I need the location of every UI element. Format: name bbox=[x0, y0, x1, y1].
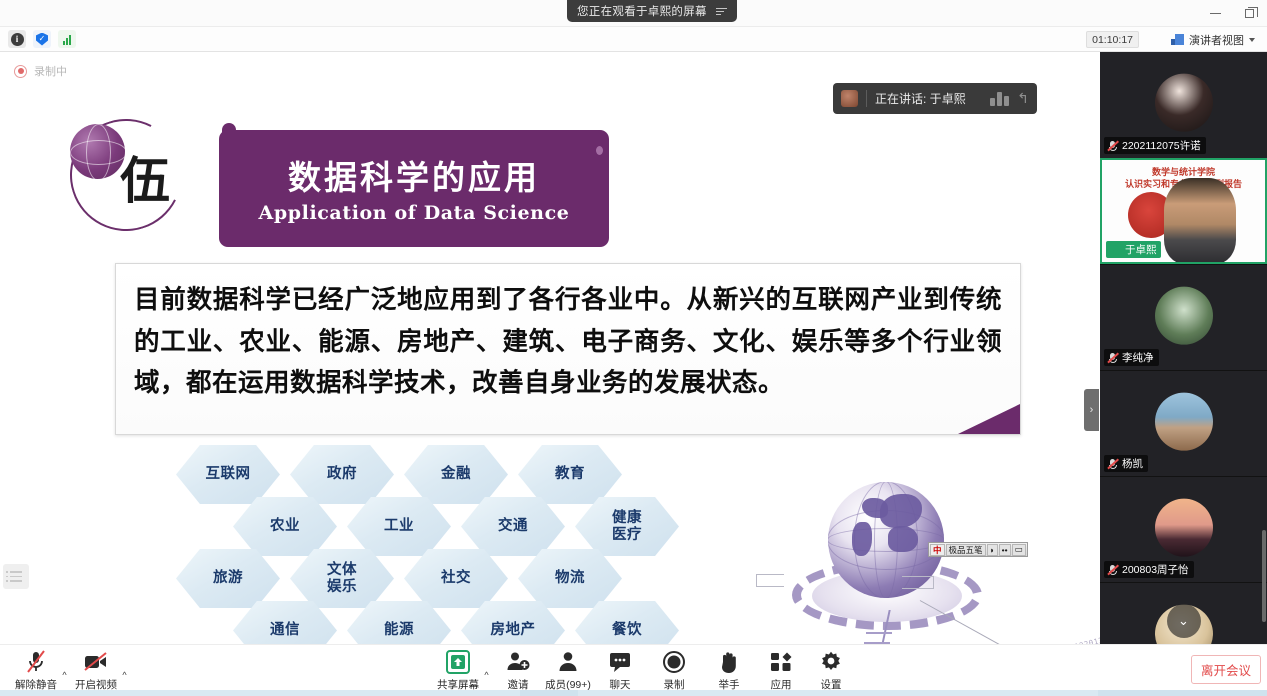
slide-title-en: Application of Data Science bbox=[219, 202, 609, 224]
active-speaker-label: 正在讲话: 于卓熙 bbox=[875, 90, 982, 107]
view-mode-label: 演讲者视图 bbox=[1189, 32, 1244, 48]
camera-off-icon bbox=[83, 650, 109, 674]
hex-cell: 互联网 bbox=[176, 445, 280, 504]
chevron-down-icon[interactable] bbox=[1249, 38, 1255, 42]
hex-cell-label: 通信 bbox=[270, 622, 300, 638]
toolbar-button-unmute[interactable]: 解除静音 bbox=[8, 650, 64, 694]
hex-cell-label: 政府 bbox=[327, 466, 357, 482]
hex-cell: 物流 bbox=[518, 549, 622, 608]
viewing-screen-text: 您正在观看于卓熙的屏幕 bbox=[577, 3, 707, 19]
hex-cell-label: 文体娱乐 bbox=[327, 562, 357, 594]
hex-cell: 社交 bbox=[404, 549, 508, 608]
participant-name: 200803周子怡 bbox=[1122, 562, 1189, 577]
recording-indicator: 录制中 bbox=[14, 63, 67, 79]
shield-icon[interactable]: ✓ bbox=[33, 30, 51, 48]
participant-name-chip: 200803周子怡 bbox=[1104, 561, 1194, 578]
hex-cell-label: 房地产 bbox=[491, 622, 536, 638]
microphone-muted-icon bbox=[1107, 458, 1118, 470]
participant-tile[interactable]: 200803周子怡 bbox=[1100, 476, 1267, 582]
info-icon[interactable]: i bbox=[8, 30, 26, 48]
shared-screen-stage: 录制中 伍 数据科学的应用 Application of Data Scienc… bbox=[0, 52, 1100, 644]
toolbar-button-record[interactable]: 录制 bbox=[646, 650, 702, 694]
hex-cell: 工业 bbox=[347, 497, 451, 556]
participant-tile[interactable]: 杨凯 bbox=[1100, 370, 1267, 476]
hex-cell: 能源 bbox=[347, 601, 451, 644]
hex-cell-label: 教育 bbox=[555, 466, 585, 482]
ime-button-3[interactable]: ▭ bbox=[1012, 544, 1026, 556]
toolbar-button-settings[interactable]: 设置 bbox=[803, 650, 859, 694]
presenter-face bbox=[1164, 178, 1236, 262]
list-icon bbox=[10, 571, 22, 581]
hex-cell: 旅游 bbox=[176, 549, 280, 608]
hex-cell: 金融 bbox=[404, 445, 508, 504]
meeting-window: 您正在观看于卓熙的屏幕 i ✓ 01:10:17 演讲者视图 录制中 bbox=[0, 0, 1267, 696]
hex-cell-label: 健康医疗 bbox=[612, 510, 642, 542]
viewing-screen-banner[interactable]: 您正在观看于卓熙的屏幕 bbox=[567, 0, 737, 22]
globe-icon bbox=[70, 124, 125, 179]
slide-title-plate: 数据科学的应用 Application of Data Science bbox=[219, 130, 609, 247]
hex-row: 通信能源房地产餐饮 bbox=[233, 601, 679, 644]
toolbar-button-participants[interactable]: 成员(99+) bbox=[540, 650, 596, 694]
industry-hex-grid: 互联网政府金融教育农业工业交通健康医疗旅游文体娱乐社交物流通信能源房地产餐饮建筑… bbox=[176, 445, 686, 644]
hex-cell: 教育 bbox=[518, 445, 622, 504]
toolbar-button-raise-hand[interactable]: 举手 bbox=[701, 650, 757, 694]
meeting-toolbar: 解除静音^开启视频^共享屏幕^邀请成员(99+)聊天录制举手应用设置 离开会议 bbox=[0, 644, 1267, 696]
toolbar-items: 解除静音^开启视频^共享屏幕^邀请成员(99+)聊天录制举手应用设置 bbox=[0, 645, 1267, 696]
toolbar-button-invite[interactable]: 邀请 bbox=[490, 650, 546, 694]
hex-cell-label: 社交 bbox=[441, 570, 471, 586]
toolbar-button-start-video[interactable]: 开启视频 bbox=[68, 650, 124, 694]
microphone-muted-icon bbox=[1107, 564, 1118, 576]
reply-arrow-icon[interactable]: ↰ bbox=[1017, 90, 1029, 107]
hex-cell: 交通 bbox=[461, 497, 565, 556]
window-restore-button[interactable] bbox=[1239, 4, 1259, 22]
hex-cell: 房地产 bbox=[461, 601, 565, 644]
ime-button-2[interactable]: •• bbox=[999, 544, 1011, 556]
participant-name: 于卓熙 bbox=[1125, 242, 1157, 257]
hex-cell: 政府 bbox=[290, 445, 394, 504]
participant-name: 2202112075许诺 bbox=[1122, 138, 1201, 153]
toolbar-button-share-screen[interactable]: 共享屏幕 bbox=[430, 650, 486, 694]
hex-cell-label: 农业 bbox=[270, 518, 300, 534]
globe-callout-lines bbox=[920, 600, 1066, 644]
toolbar-button-chevron-up-icon[interactable]: ^ bbox=[120, 671, 129, 680]
participant-name-chip: 2202112075许诺 bbox=[1104, 137, 1206, 154]
audio-wave-icon bbox=[990, 92, 1009, 106]
participant-tile[interactable]: 数学与统计学院认识实习和专业实习系列报告于卓熙 bbox=[1100, 158, 1267, 264]
status-toolbar: i ✓ 01:10:17 演讲者视图 bbox=[0, 27, 1267, 52]
raise-hand-icon bbox=[718, 650, 740, 674]
hex-row: 互联网政府金融教育 bbox=[176, 445, 622, 504]
recording-label: 录制中 bbox=[34, 63, 67, 79]
ime-name-label: 极品五笔 bbox=[946, 544, 986, 556]
meeting-timer: 01:10:17 bbox=[1086, 31, 1139, 48]
panel-collapse-handle[interactable]: › bbox=[1084, 389, 1099, 431]
hex-cell-label: 物流 bbox=[555, 570, 585, 586]
invite-person-icon bbox=[506, 650, 530, 674]
hex-cell-label: 能源 bbox=[384, 622, 414, 638]
ime-language-icon[interactable]: 中 bbox=[930, 544, 945, 556]
participant-tile[interactable]: 2202112075许诺 bbox=[1100, 52, 1267, 158]
panel-scrollbar[interactable] bbox=[1262, 530, 1266, 622]
participant-name-chip: 杨凯 bbox=[1104, 455, 1148, 472]
microphone-muted-icon bbox=[1107, 140, 1118, 152]
avatar bbox=[1155, 498, 1213, 556]
hex-cell: 健康医疗 bbox=[575, 497, 679, 556]
slide-body-text: 目前数据科学已经广泛地应用到了各行各业中。从新兴的互联网产业到传统的工业、农业、… bbox=[134, 280, 1002, 405]
participant-video-panel[interactable]: 2202112075许诺数学与统计学院认识实习和专业实习系列报告于卓熙李纯净杨凯… bbox=[1100, 52, 1267, 644]
hex-cell-label: 工业 bbox=[384, 518, 414, 534]
avatar bbox=[1155, 74, 1213, 132]
gear-icon bbox=[819, 650, 843, 674]
card-corner-accent bbox=[958, 404, 1020, 434]
record-circle-icon bbox=[662, 650, 686, 674]
toolbar-button-chat[interactable]: 聊天 bbox=[592, 650, 648, 694]
leave-meeting-button[interactable]: 离开会议 bbox=[1191, 655, 1261, 684]
participant-name-chip: 李纯净 bbox=[1104, 349, 1159, 366]
slide-body-card: 目前数据科学已经广泛地应用到了各行各业中。从新兴的互联网产业到传统的工业、农业、… bbox=[115, 263, 1021, 435]
participant-name-chip: 于卓熙 bbox=[1106, 241, 1161, 258]
hex-cell: 文体娱乐 bbox=[290, 549, 394, 608]
participant-name: 李纯净 bbox=[1122, 350, 1154, 365]
active-speaker-bubble: 正在讲话: 于卓熙 ↰ bbox=[833, 83, 1037, 114]
hex-row: 旅游文体娱乐社交物流 bbox=[176, 549, 622, 608]
status-icon-group: i ✓ bbox=[8, 30, 76, 48]
hex-row: 农业工业交通健康医疗 bbox=[233, 497, 679, 556]
microphone-icon bbox=[1110, 244, 1121, 256]
window-controls bbox=[1205, 4, 1259, 22]
chat-bubble-icon bbox=[608, 650, 632, 674]
ime-toolbar[interactable]: 中 极品五笔 ◗ •• ▭ bbox=[928, 542, 1028, 557]
hex-cell: 餐饮 bbox=[575, 601, 679, 644]
ime-button-1[interactable]: ◗ bbox=[987, 544, 998, 556]
layout-icon bbox=[1171, 34, 1184, 45]
hex-cell: 农业 bbox=[233, 497, 337, 556]
tech-globe-illustration: 20111213145 10210122013 bbox=[760, 482, 1070, 644]
sidebar-toggle-button[interactable] bbox=[3, 564, 29, 589]
avatar bbox=[1155, 392, 1213, 450]
hamburger-icon[interactable] bbox=[716, 8, 727, 15]
toolbar-button-apps[interactable]: 应用 bbox=[753, 650, 809, 694]
share-screen-icon bbox=[446, 650, 470, 674]
hex-cell: 通信 bbox=[233, 601, 337, 644]
view-mode-selector[interactable]: 演讲者视图 bbox=[1165, 30, 1261, 49]
avatar bbox=[1155, 286, 1213, 344]
hex-cell-label: 金融 bbox=[441, 466, 471, 482]
hex-cell-label: 旅游 bbox=[213, 570, 243, 586]
hex-cell-label: 交通 bbox=[498, 518, 528, 534]
apps-grid-icon bbox=[769, 650, 793, 674]
slide-section-number: 伍 bbox=[120, 156, 170, 206]
chevron-down-icon[interactable]: ⌄ bbox=[1167, 604, 1201, 638]
participant-tile[interactable]: 李纯净 bbox=[1100, 264, 1267, 370]
screen-bottom-edge bbox=[0, 690, 1267, 696]
participant-name: 杨凯 bbox=[1122, 456, 1143, 471]
window-minimize-button[interactable] bbox=[1205, 4, 1225, 22]
speaker-avatar bbox=[841, 90, 858, 107]
network-signal-icon[interactable] bbox=[58, 30, 76, 48]
participants-icon bbox=[556, 650, 580, 674]
slide-title-cn: 数据科学的应用 bbox=[219, 151, 609, 199]
hex-cell-label: 互联网 bbox=[206, 466, 251, 482]
slide-section-emblem: 伍 bbox=[58, 114, 218, 234]
microphone-muted-icon bbox=[1107, 352, 1118, 364]
microphone-muted-icon bbox=[25, 650, 47, 674]
record-dot-icon bbox=[14, 65, 27, 78]
hex-cell-label: 餐饮 bbox=[612, 622, 642, 638]
